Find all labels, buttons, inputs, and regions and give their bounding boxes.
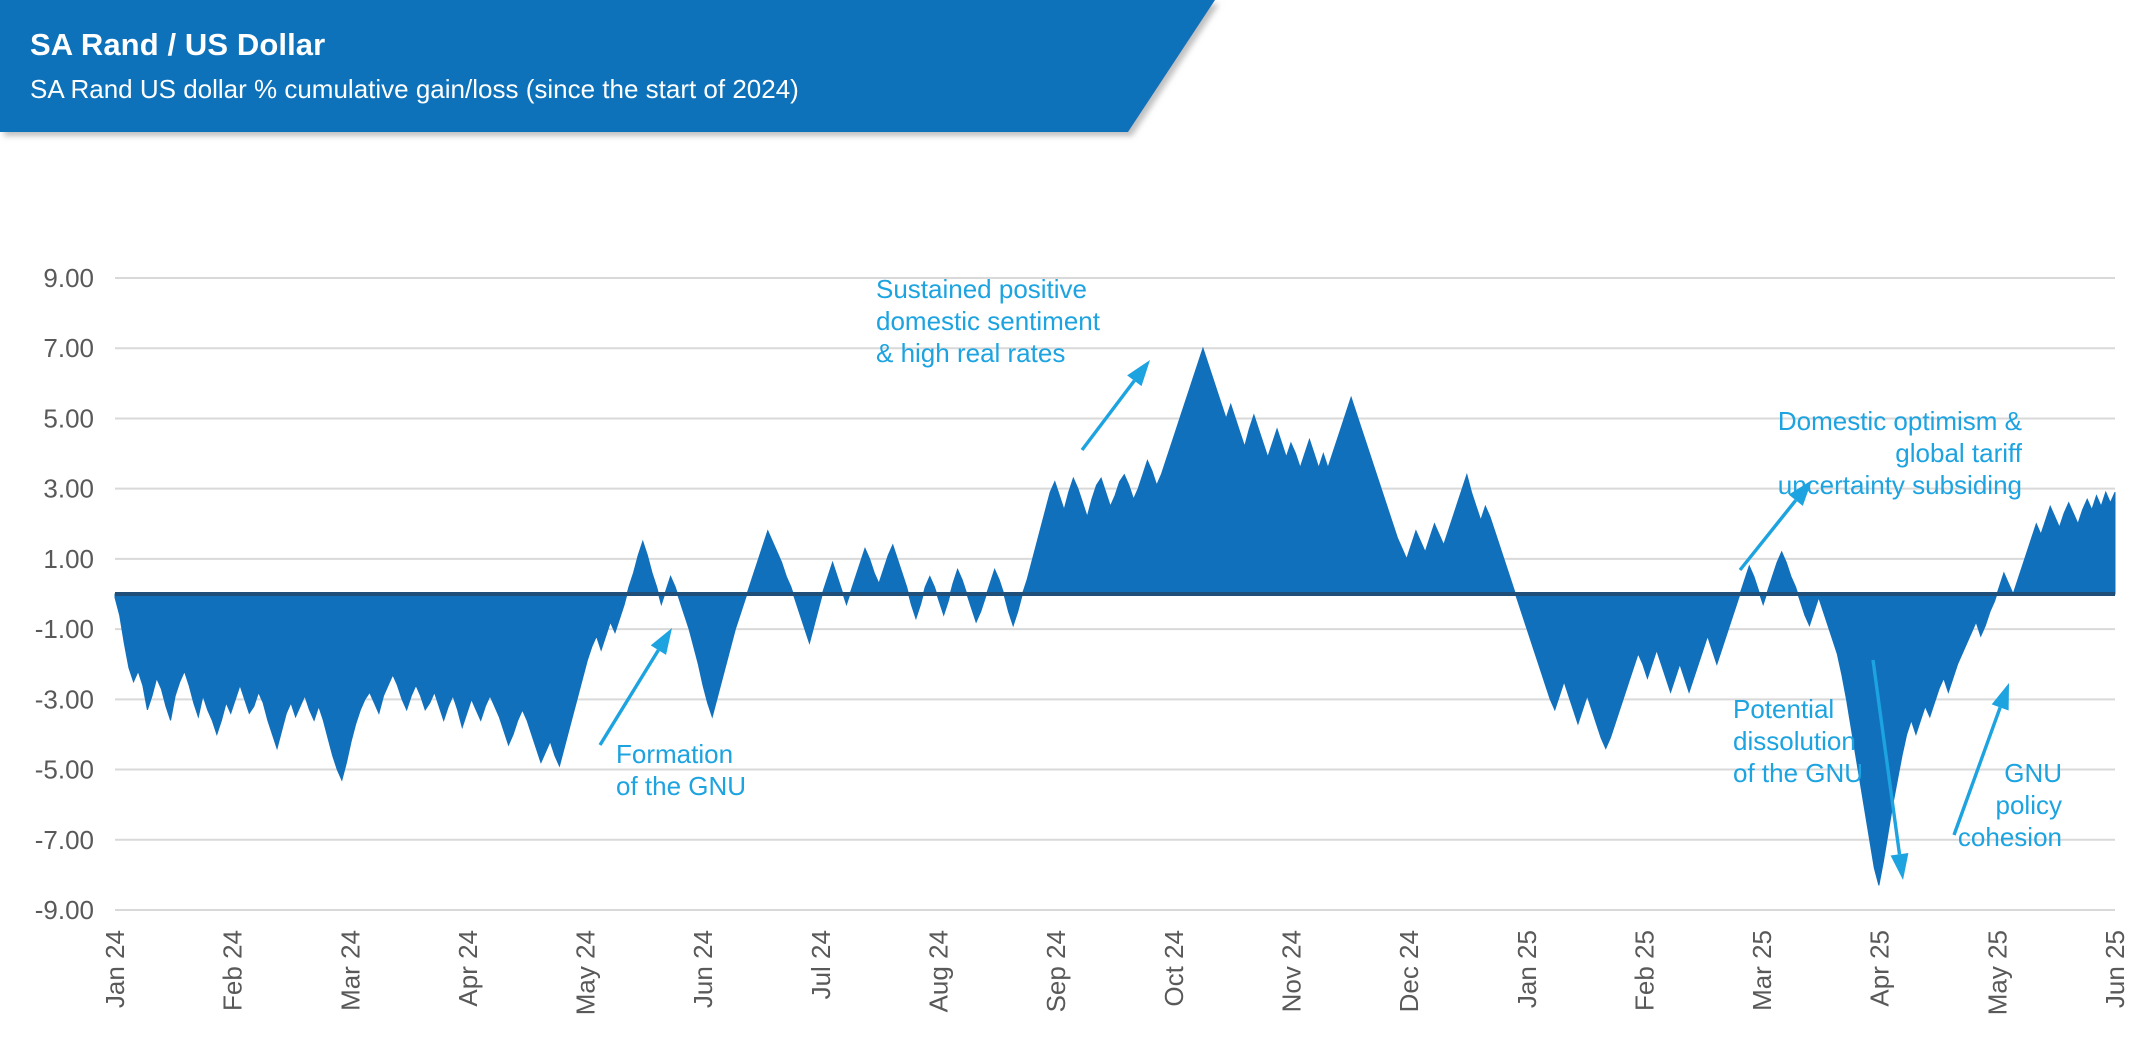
y-tick-label: 1.00 [43, 544, 94, 574]
annotation-arrow-head [1891, 853, 1909, 880]
y-tick-label: 7.00 [43, 333, 94, 363]
annotation-arrow-line [600, 650, 658, 745]
y-axis-tick-labels: 9.007.005.003.001.00-1.00-3.00-5.00-7.00… [35, 263, 94, 925]
x-tick-label: May 25 [1982, 930, 2012, 1015]
annotation-gnu-policy-cohesion: GNUpolicycohesion [1958, 758, 2062, 852]
annotation-arrow-head [1992, 683, 2009, 711]
chart-container: 9.007.005.003.001.00-1.00-3.00-5.00-7.00… [0, 0, 2152, 1062]
x-tick-label: Sep 24 [1041, 930, 1071, 1012]
annotation-line: dissolution [1733, 726, 1856, 756]
annotation-line: Potential [1733, 694, 1834, 724]
annotation-line: Sustained positive [876, 274, 1087, 304]
annotation-arrow-head [651, 628, 672, 655]
annotation-line: GNU [2004, 758, 2062, 788]
annotation-domestic-optimism: Domestic optimism &global tariffuncertai… [1778, 406, 2023, 500]
x-tick-label: Apr 25 [1865, 930, 1895, 1007]
x-tick-label: Jan 25 [1512, 930, 1542, 1008]
annotation-sustained-positive: Sustained positivedomestic sentiment& hi… [876, 274, 1101, 368]
y-tick-label: 5.00 [43, 403, 94, 433]
annotation-arrow-line [1082, 381, 1134, 450]
y-tick-label: 3.00 [43, 474, 94, 504]
annotation-line: uncertainty subsiding [1778, 470, 2022, 500]
x-tick-label: Mar 25 [1747, 930, 1777, 1011]
annotation-line: & high real rates [876, 338, 1065, 368]
y-tick-label: -1.00 [35, 614, 94, 644]
annotation-line: of the GNU [616, 771, 746, 801]
annotation-line: domestic sentiment [876, 306, 1101, 336]
y-tick-label: -5.00 [35, 755, 94, 785]
annotation-line: policy [1996, 790, 2062, 820]
x-tick-label: May 24 [571, 930, 601, 1015]
y-tick-label: 9.00 [43, 263, 94, 293]
x-axis-tick-labels: Jan 24Feb 24Mar 24Apr 24May 24Jun 24Jul … [100, 930, 2130, 1015]
annotation-line: Formation [616, 739, 733, 769]
annotation-line: Domestic optimism & [1778, 406, 2022, 436]
x-tick-label: Nov 24 [1276, 930, 1306, 1012]
x-tick-label: Jan 24 [100, 930, 130, 1008]
annotation-line: global tariff [1895, 438, 2022, 468]
x-tick-label: Jun 25 [2100, 930, 2130, 1008]
x-tick-label: Feb 24 [218, 930, 248, 1011]
annotation-arrow-line [1954, 707, 2000, 835]
annotation-potential-dissolution: Potentialdissolutionof the GNU [1733, 694, 1863, 788]
x-tick-label: Apr 24 [453, 930, 483, 1007]
x-tick-label: Jun 24 [688, 930, 718, 1008]
x-tick-label: Dec 24 [1394, 930, 1424, 1012]
y-tick-label: -3.00 [35, 684, 94, 714]
annotation-line: cohesion [1958, 822, 2062, 852]
annotation-arrow-head [1127, 360, 1150, 386]
x-tick-label: Oct 24 [1159, 930, 1189, 1007]
x-tick-label: Aug 24 [924, 930, 954, 1012]
annotation-line: of the GNU [1733, 758, 1863, 788]
x-tick-label: Jul 24 [806, 930, 836, 999]
x-tick-label: Feb 25 [1629, 930, 1659, 1011]
y-tick-label: -7.00 [35, 825, 94, 855]
area-chart: 9.007.005.003.001.00-1.00-3.00-5.00-7.00… [0, 0, 2152, 1062]
x-tick-label: Mar 24 [335, 930, 365, 1011]
y-tick-label: -9.00 [35, 895, 94, 925]
